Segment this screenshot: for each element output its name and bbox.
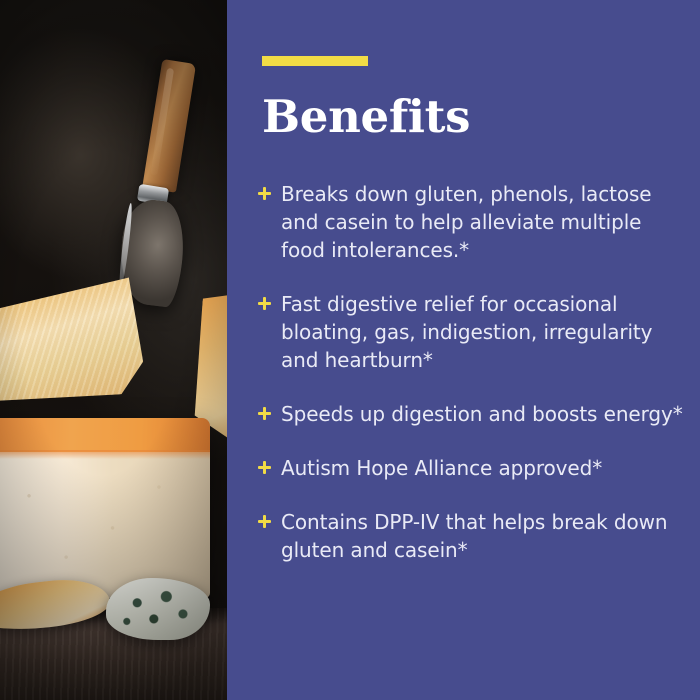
benefit-text: Speeds up digestion and boosts energy* — [281, 400, 687, 428]
list-item: Autism Hope Alliance approved* — [257, 454, 687, 482]
plus-icon — [257, 180, 273, 208]
list-item: Contains DPP-IV that helps break down gl… — [257, 508, 687, 564]
cheese-texture — [0, 452, 210, 598]
list-item: Breaks down gluten, phenols, lactose and… — [257, 180, 687, 264]
plus-icon — [257, 290, 273, 318]
accent-bar — [262, 56, 368, 66]
benefits-list: Breaks down gluten, phenols, lactose and… — [257, 180, 687, 564]
benefit-text: Contains DPP-IV that helps break down gl… — [281, 508, 687, 564]
benefits-content-panel: Benefits Breaks down gluten, phenols, la… — [227, 0, 700, 700]
blue-cheese-crumble — [106, 578, 210, 640]
page-title: Benefits — [262, 88, 470, 146]
benefit-text: Autism Hope Alliance approved* — [281, 454, 687, 482]
benefit-text: Fast digestive relief for occasional blo… — [281, 290, 687, 374]
list-item: Fast digestive relief for occasional blo… — [257, 290, 687, 374]
benefit-text: Breaks down gluten, phenols, lactose and… — [281, 180, 687, 264]
plus-icon — [257, 454, 273, 482]
orange-rind-cheese-block — [0, 418, 210, 598]
plus-icon — [257, 400, 273, 428]
cheese-rind — [0, 418, 210, 452]
cheese-photo-panel — [0, 0, 227, 700]
benefits-infographic: Benefits Breaks down gluten, phenols, la… — [0, 0, 700, 700]
list-item: Speeds up digestion and boosts energy* — [257, 400, 687, 428]
plus-icon — [257, 508, 273, 536]
